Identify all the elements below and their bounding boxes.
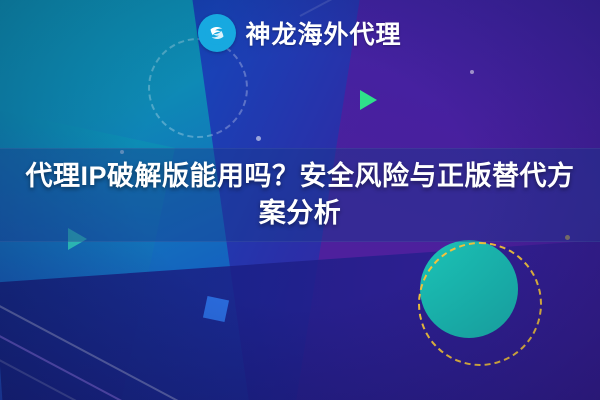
brand-name: 神龙海外代理 [245,15,401,51]
swirl-badge-icon [198,14,236,52]
headline-band: 代理IP破解版能用吗？安全风险与正版替代方案分析 [0,148,600,242]
headline-text: 代理IP破解版能用吗？安全风险与正版替代方案分析 [2,152,598,237]
brand-logo: 神龙海外代理 [0,14,600,52]
banner-image: 神龙海外代理 代理IP破解版能用吗？安全风险与正版替代方案分析 [0,0,600,400]
